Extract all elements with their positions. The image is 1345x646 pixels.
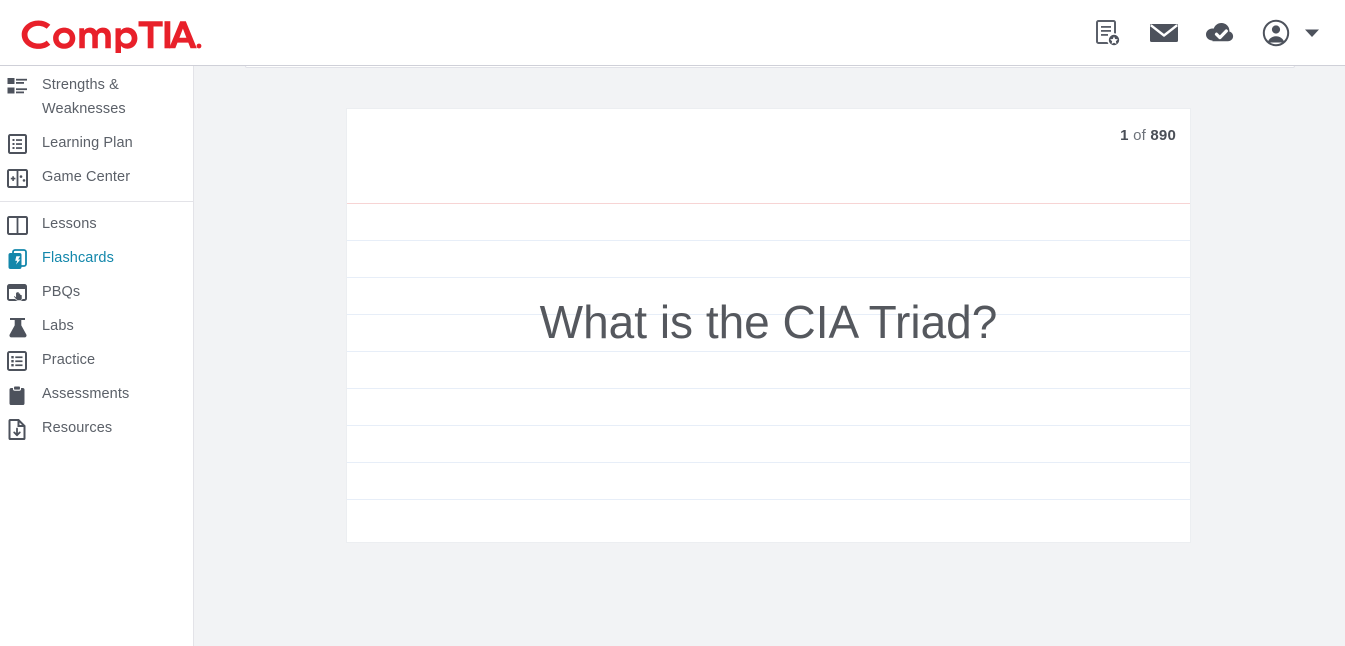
sidebar-item-labs[interactable]: Labs bbox=[0, 309, 193, 343]
sidebar-item-resources[interactable]: Resources bbox=[0, 411, 193, 445]
flashcard-rule bbox=[347, 240, 1190, 241]
sidebar-item-strengths-weaknesses[interactable]: Strengths & Weaknesses bbox=[0, 68, 193, 126]
sidebar-item-assessments[interactable]: Assessments bbox=[0, 377, 193, 411]
sidebar-item-label: Labs bbox=[42, 314, 74, 338]
flashcard-rule bbox=[347, 499, 1190, 500]
top-header bbox=[0, 0, 1345, 66]
flashcard-rule bbox=[347, 388, 1190, 389]
document-star-icon[interactable] bbox=[1091, 16, 1125, 50]
sidebar-item-label: Learning Plan bbox=[42, 131, 133, 155]
sidebar-item-game-center[interactable]: Game Center bbox=[0, 160, 193, 194]
sidebar-item-label: Lessons bbox=[42, 212, 97, 236]
sidebar-nav: Strengths & Weaknesses Learning Plan bbox=[0, 66, 194, 646]
flashcard-margin-rule bbox=[347, 203, 1190, 204]
main-content: 1 of 890 What is the CIA Triad? bbox=[194, 66, 1345, 646]
user-circle-icon[interactable] bbox=[1259, 16, 1293, 50]
sidebar-item-lessons[interactable]: Lessons bbox=[0, 207, 193, 241]
cloud-check-icon[interactable] bbox=[1203, 16, 1237, 50]
flashcard-question-text: What is the CIA Triad? bbox=[347, 295, 1190, 349]
flashcard-rule bbox=[347, 462, 1190, 463]
sidebar-item-label: Game Center bbox=[42, 165, 130, 189]
sidebar-item-pbqs[interactable]: PBQs bbox=[0, 275, 193, 309]
sidebar-item-learning-plan[interactable]: Learning Plan bbox=[0, 126, 193, 160]
pbq-cursor-icon bbox=[6, 282, 28, 304]
checklist-document-icon bbox=[6, 133, 28, 155]
app-root: Strengths & Weaknesses Learning Plan bbox=[0, 0, 1345, 646]
flashcard-rule bbox=[347, 277, 1190, 278]
download-document-icon bbox=[6, 418, 28, 440]
sidebar-item-flashcards[interactable]: Flashcards bbox=[0, 241, 193, 275]
comptia-logo[interactable] bbox=[12, 13, 202, 53]
sidebar-divider bbox=[0, 201, 193, 202]
sidebar-item-label: Strengths & Weaknesses bbox=[42, 73, 183, 121]
sidebar-item-label: PBQs bbox=[42, 280, 80, 304]
sidebar-item-label: Practice bbox=[42, 348, 95, 372]
flashcard-counter-total: 890 bbox=[1150, 127, 1176, 144]
chevron-down-icon[interactable] bbox=[1303, 16, 1321, 50]
flask-icon bbox=[6, 316, 28, 338]
book-open-icon bbox=[6, 214, 28, 236]
flashcard-counter: 1 of 890 bbox=[1120, 127, 1176, 144]
flashcard-counter-separator: of bbox=[1129, 127, 1151, 144]
clipboard-icon bbox=[6, 384, 28, 406]
toolbar-panel-edge bbox=[245, 66, 1295, 68]
game-center-icon bbox=[6, 167, 28, 189]
sidebar-item-label: Assessments bbox=[42, 382, 129, 406]
flashcard-rule bbox=[347, 351, 1190, 352]
flashcards-icon bbox=[6, 248, 28, 270]
bar-chart-icon bbox=[6, 75, 28, 97]
envelope-icon[interactable] bbox=[1147, 16, 1181, 50]
flashcard-rule bbox=[347, 425, 1190, 426]
sidebar-item-practice[interactable]: Practice bbox=[0, 343, 193, 377]
flashcard[interactable]: 1 of 890 What is the CIA Triad? bbox=[346, 108, 1191, 543]
list-icon bbox=[6, 350, 28, 372]
sidebar-item-label: Flashcards bbox=[42, 246, 114, 270]
sidebar-item-label: Resources bbox=[42, 416, 112, 440]
header-actions bbox=[1091, 16, 1321, 50]
flashcard-counter-current: 1 bbox=[1120, 127, 1129, 144]
